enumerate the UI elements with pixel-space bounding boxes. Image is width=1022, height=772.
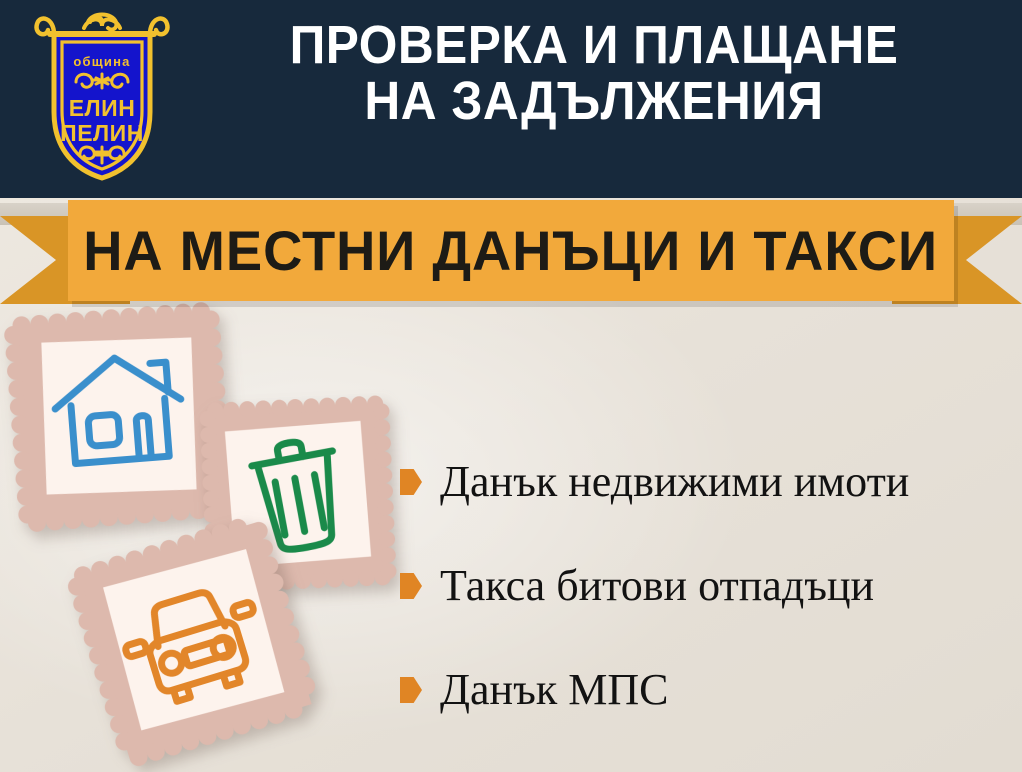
ribbon-label: НА МЕСТНИ ДАНЪЦИ И ТАКСИ bbox=[84, 218, 939, 283]
list-item[interactable]: Данък МПС bbox=[400, 638, 1012, 742]
list-item-label: Данък МПС bbox=[440, 668, 668, 712]
ribbon-band: НА МЕСТНИ ДАНЪЦИ И ТАКСИ bbox=[68, 200, 954, 301]
poster-root: община ЕЛИН ПЕЛИН bbox=[0, 0, 1022, 772]
page-title-line-2: НА ЗАДЪЛЖЕНИЯ bbox=[213, 74, 975, 130]
subtitle-ribbon: НА МЕСТНИ ДАНЪЦИ И ТАКСИ bbox=[0, 200, 1022, 304]
arrow-bullet-icon bbox=[400, 573, 422, 599]
svg-text:ЕЛИН: ЕЛИН bbox=[69, 95, 136, 121]
header-banner: община ЕЛИН ПЕЛИН bbox=[0, 0, 1022, 198]
list-item[interactable]: Такса битови отпадъци bbox=[400, 534, 1012, 638]
page-title: ПРОВЕРКА И ПЛАЩАНЕ НА ЗАДЪЛЖЕНИЯ bbox=[213, 18, 975, 129]
tax-type-list: Данък недвижими имоти Такса битови отпад… bbox=[400, 430, 1012, 742]
svg-text:община: община bbox=[73, 54, 130, 69]
list-item-label: Данък недвижими имоти bbox=[440, 460, 909, 504]
arrow-bullet-icon bbox=[400, 469, 422, 495]
stamp-collage bbox=[0, 296, 430, 772]
municipality-logo: община ЕЛИН ПЕЛИН bbox=[28, 8, 176, 190]
list-item[interactable]: Данък недвижими имоти bbox=[400, 430, 1012, 534]
arrow-bullet-icon bbox=[400, 677, 422, 703]
page-title-line-1: ПРОВЕРКА И ПЛАЩАНЕ bbox=[213, 18, 975, 74]
svg-text:ПЕЛИН: ПЕЛИН bbox=[60, 120, 144, 146]
list-item-label: Такса битови отпадъци bbox=[440, 564, 874, 608]
